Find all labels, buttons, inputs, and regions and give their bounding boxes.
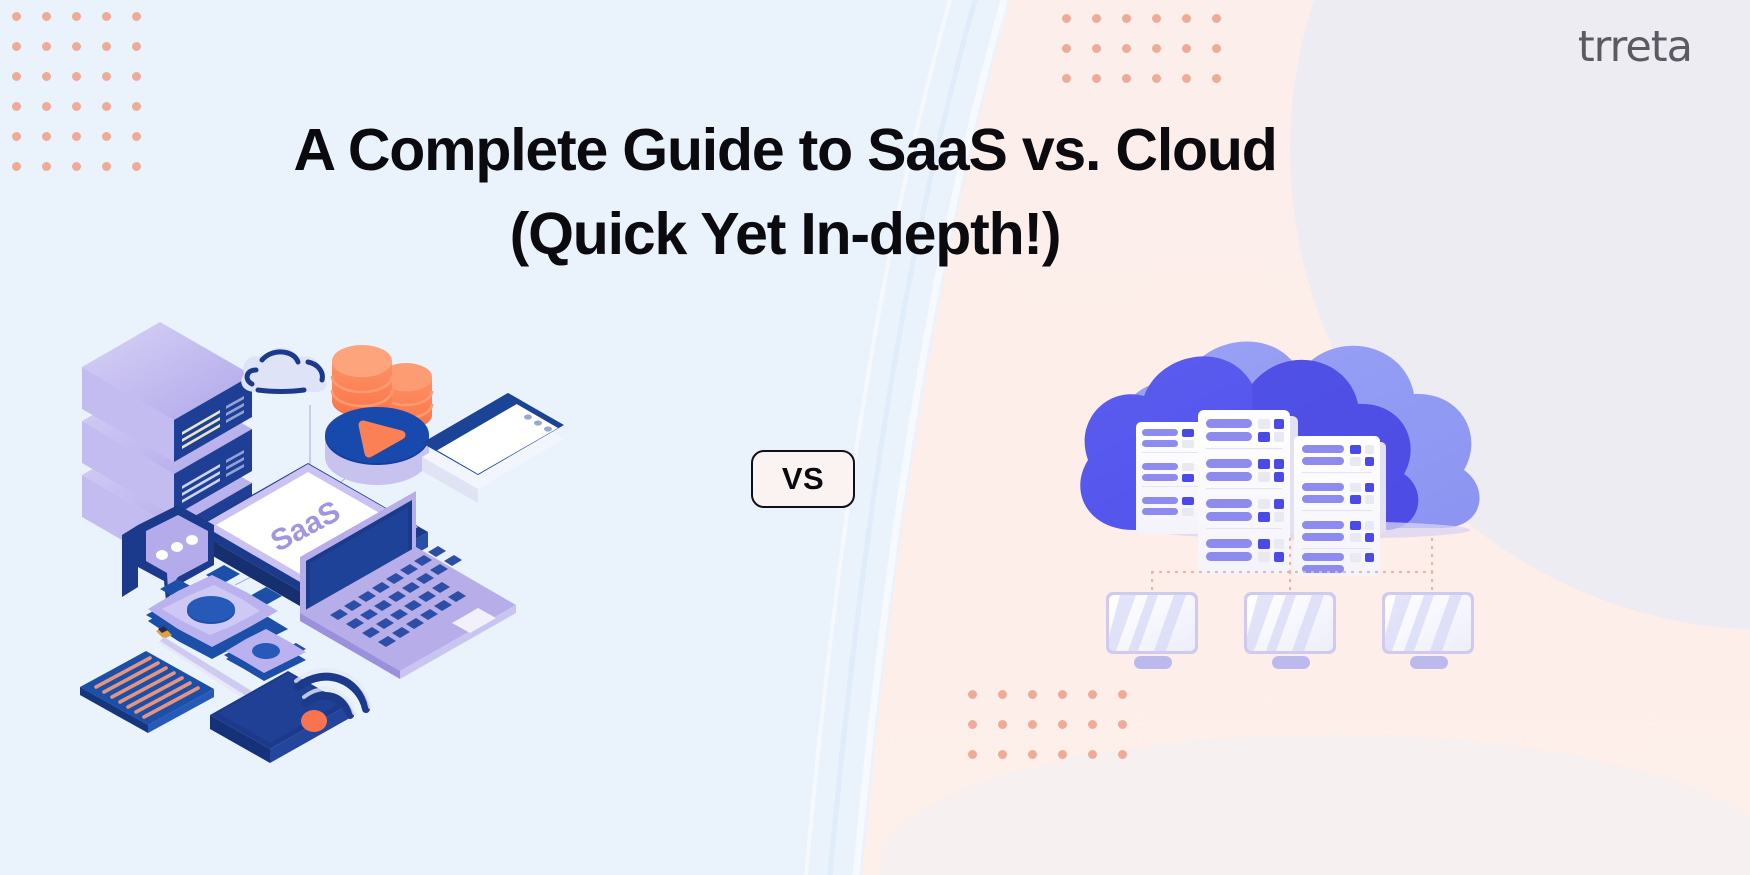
monitor-center bbox=[1244, 592, 1336, 669]
server-panel-center bbox=[1198, 410, 1298, 574]
page-title-line-1: A Complete Guide to SaaS vs. Cloud bbox=[0, 108, 1570, 192]
dot-grid-bottom bbox=[968, 690, 1148, 780]
brand-logo[interactable]: trreta bbox=[1578, 22, 1692, 72]
monitor-left bbox=[1106, 592, 1198, 669]
saas-illustration: SaaS bbox=[60, 285, 580, 715]
cloud-icon-small bbox=[241, 348, 326, 393]
play-button-disc bbox=[325, 407, 429, 485]
server-panel-right bbox=[1294, 436, 1386, 576]
page-title-line-2: (Quick Yet In-depth!) bbox=[0, 192, 1570, 276]
vs-badge: VS bbox=[751, 450, 855, 508]
banner-root: trreta A Complete Guide to SaaS vs. Clou… bbox=[0, 0, 1750, 875]
browser-window bbox=[422, 393, 564, 503]
cloud-illustration bbox=[1060, 280, 1520, 660]
dotted-connectors bbox=[1152, 536, 1432, 592]
vs-badge-label: VS bbox=[782, 461, 824, 497]
monitor-right bbox=[1382, 592, 1474, 669]
page-title: A Complete Guide to SaaS vs. Cloud (Quic… bbox=[0, 108, 1570, 276]
dot-grid-top-center bbox=[1062, 14, 1242, 104]
